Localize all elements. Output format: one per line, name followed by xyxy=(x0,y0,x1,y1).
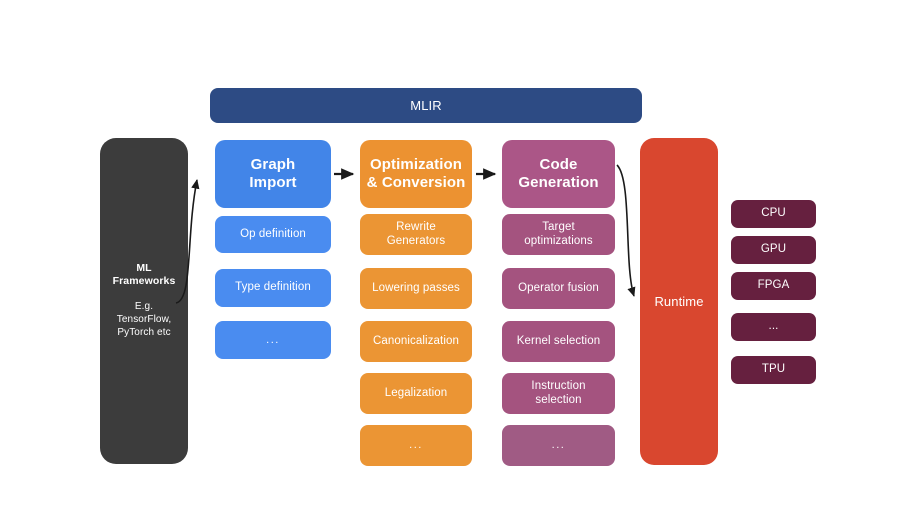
arrow-code-generation-to-runtime xyxy=(617,165,634,296)
hardware-target-more[interactable]: ... xyxy=(731,313,816,341)
hardware-target-fpga[interactable]: FPGA xyxy=(731,272,816,300)
mlir-title-bar: MLIR xyxy=(210,88,642,123)
ml-frameworks-panel: ML Frameworks E.g. TensorFlow, PyTorch e… xyxy=(100,138,188,464)
graph-import-item-op-definition[interactable]: Op definition xyxy=(215,216,331,253)
code-generation-item-kernel-selection[interactable]: Kernel selection xyxy=(502,321,615,362)
code-generation-item-instruction-selection[interactable]: Instruction selection xyxy=(502,373,615,414)
ml-frameworks-subtitle: E.g. TensorFlow, PyTorch etc xyxy=(117,301,171,339)
ml-frameworks-title: ML Frameworks xyxy=(113,262,176,288)
optimization-item-lowering-passes[interactable]: Lowering passes xyxy=(360,268,472,309)
hardware-target-cpu[interactable]: CPU xyxy=(731,200,816,228)
code-generation-item-operator-fusion[interactable]: Operator fusion xyxy=(502,268,615,309)
optimization-item-canonicalization[interactable]: Canonicalization xyxy=(360,321,472,362)
graph-import-item-more[interactable]: ... xyxy=(215,321,331,359)
optimization-item-rewrite-generators[interactable]: Rewrite Generators xyxy=(360,214,472,255)
hardware-target-gpu[interactable]: GPU xyxy=(731,236,816,264)
stage-header-graph-import[interactable]: Graph Import xyxy=(215,140,331,208)
optimization-item-more[interactable]: ... xyxy=(360,425,472,466)
mlir-compiler-flow-diagram: MLIR ML Frameworks E.g. TensorFlow, PyTo… xyxy=(0,0,900,505)
code-generation-item-more[interactable]: ... xyxy=(502,425,615,466)
optimization-item-legalization[interactable]: Legalization xyxy=(360,373,472,414)
stage-header-optimization-conversion[interactable]: Optimization & Conversion xyxy=(360,140,472,208)
graph-import-item-type-definition[interactable]: Type definition xyxy=(215,269,331,307)
hardware-target-tpu[interactable]: TPU xyxy=(731,356,816,384)
runtime-panel: Runtime xyxy=(640,138,718,465)
stage-header-code-generation[interactable]: Code Generation xyxy=(502,140,615,208)
code-generation-item-target-optimizations[interactable]: Target optimizations xyxy=(502,214,615,255)
